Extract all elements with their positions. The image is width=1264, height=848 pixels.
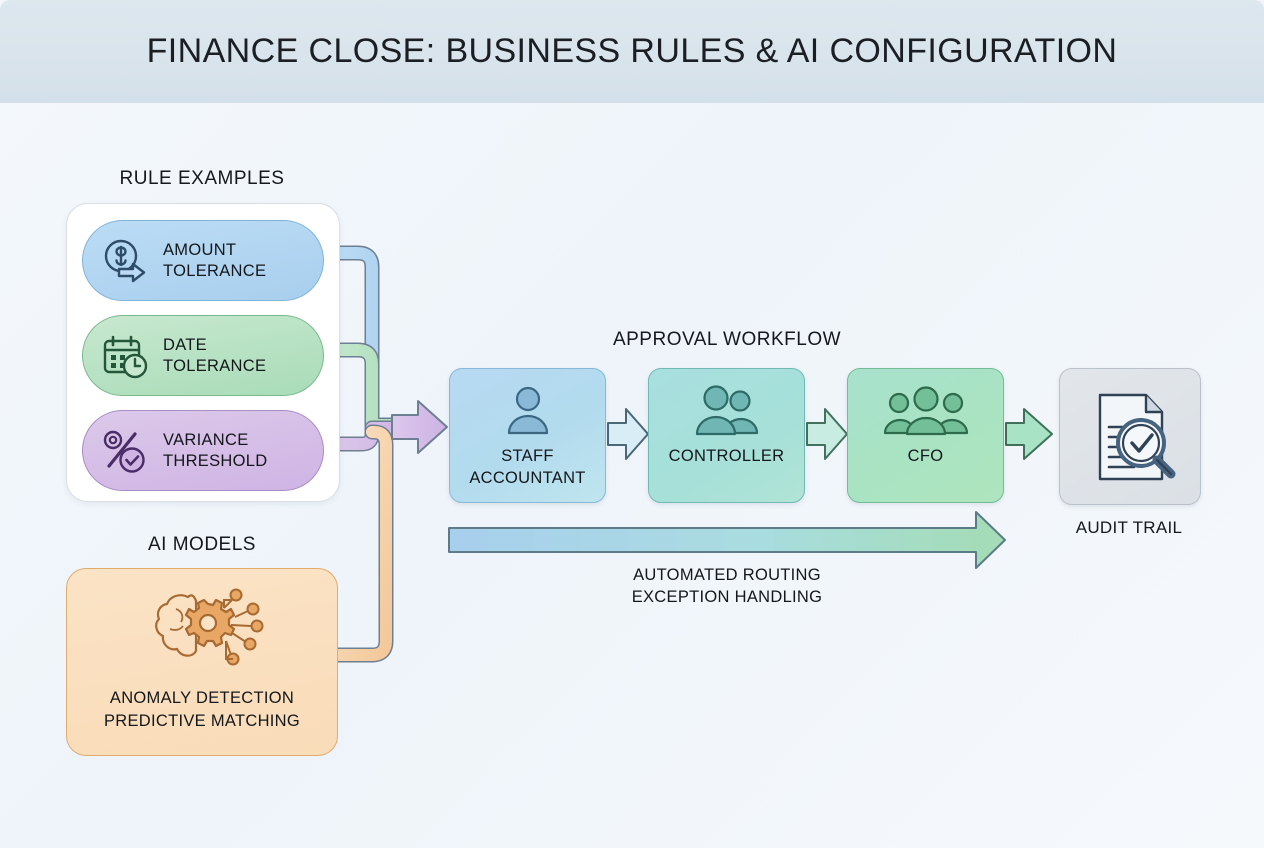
dollar-transfer-icon <box>97 233 153 289</box>
workflow-section-label: APPROVAL WORKFLOW <box>449 329 1005 351</box>
diagram-canvas: FINANCE CLOSE: BUSINESS RULES & AI CONFI… <box>0 0 1264 848</box>
rule-pill-variance-threshold[interactable]: VARIANCE THRESHOLD <box>82 410 324 491</box>
workflow-step-cfo-label: CFO <box>908 445 944 467</box>
calendar-clock-icon <box>97 328 153 384</box>
rules-section-label: RULE EXAMPLES <box>66 168 338 190</box>
ai-section-label: AI MODELS <box>66 534 338 556</box>
rule-pill-date-tolerance[interactable]: DATE TOLERANCE <box>82 315 324 396</box>
workflow-step-controller-label: CONTROLLER <box>669 445 785 467</box>
workflow-step-cfo[interactable]: CFO <box>847 368 1004 503</box>
workflow-step-staff-accountant-label: STAFF ACCOUNTANT <box>469 445 585 489</box>
single-person-icon <box>498 383 558 439</box>
header-band: FINANCE CLOSE: BUSINESS RULES & AI CONFI… <box>0 0 1264 103</box>
rule-pill-variance-threshold-label: VARIANCE THRESHOLD <box>163 430 267 472</box>
page-title: FINANCE CLOSE: BUSINESS RULES & AI CONFI… <box>147 32 1118 71</box>
ai-models-text: ANOMALY DETECTION PREDICTIVE MATCHING <box>104 687 300 733</box>
document-magnifier-check-icon <box>1078 385 1182 489</box>
ai-models-card[interactable]: ANOMALY DETECTION PREDICTIVE MATCHING <box>66 568 338 756</box>
rule-pill-amount-tolerance-label: AMOUNT TOLERANCE <box>163 240 266 282</box>
rule-pill-amount-tolerance[interactable]: AMOUNT TOLERANCE <box>82 220 324 301</box>
audit-trail-card[interactable] <box>1059 368 1201 505</box>
arrow-cfo-to-audit-icon <box>1006 409 1052 459</box>
three-people-icon <box>882 383 970 439</box>
arrow-controller-to-cfo-icon <box>807 409 847 459</box>
percent-check-icon <box>97 423 153 479</box>
workflow-step-staff-accountant[interactable]: STAFF ACCOUNTANT <box>449 368 606 503</box>
connector-variance-threshold <box>330 428 405 444</box>
connector-amount-tolerance <box>330 253 405 425</box>
merge-arrow-icon <box>392 401 447 453</box>
rules-panel: AMOUNT TOLERANCE <box>66 203 340 502</box>
automation-arrow-icon <box>449 512 1005 568</box>
rule-pill-date-tolerance-label: DATE TOLERANCE <box>163 335 266 377</box>
connector-date-tolerance <box>330 350 405 425</box>
arrow-staff-to-controller-icon <box>608 409 648 459</box>
brain-gear-network-icon <box>136 581 268 681</box>
two-people-icon <box>690 383 764 439</box>
audit-trail-label: AUDIT TRAIL <box>1059 518 1199 538</box>
workflow-step-controller[interactable]: CONTROLLER <box>648 368 805 503</box>
automation-caption: AUTOMATED ROUTING EXCEPTION HANDLING <box>560 564 894 608</box>
